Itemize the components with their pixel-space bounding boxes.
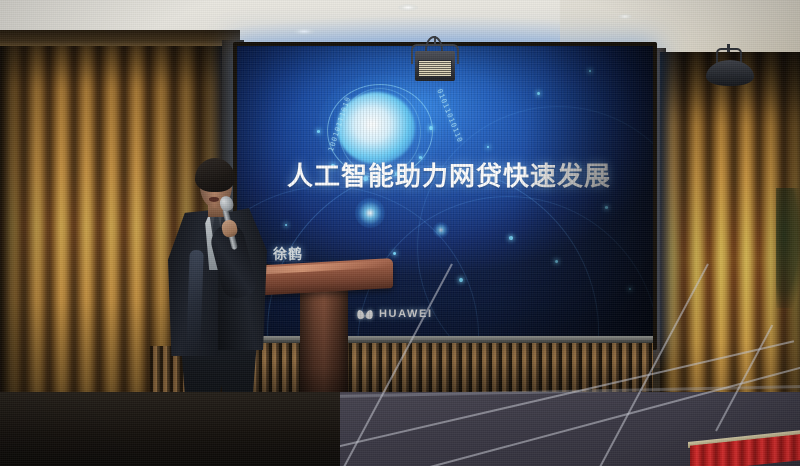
- potted-plant: [776, 188, 800, 308]
- conference-photo-scene: 10010111010 01011010110 人工智能助力网贷快速发展 徐鹤 …: [0, 0, 800, 466]
- recessed-downlight-icon: [618, 14, 632, 19]
- light-lens: [418, 60, 452, 77]
- fixture-dome: [706, 60, 754, 86]
- presenter: [160, 158, 290, 430]
- stage-floor-shadow-left: [0, 392, 340, 466]
- presenter-mouth: [209, 197, 219, 202]
- recessed-downlight-icon: [293, 28, 315, 35]
- presenter-hair: [195, 158, 235, 192]
- podium-column-shading: [300, 286, 348, 402]
- stage-light-icon: [409, 36, 461, 84]
- curtain-left-valance: [0, 30, 240, 46]
- recessed-downlight-icon: [398, 4, 418, 11]
